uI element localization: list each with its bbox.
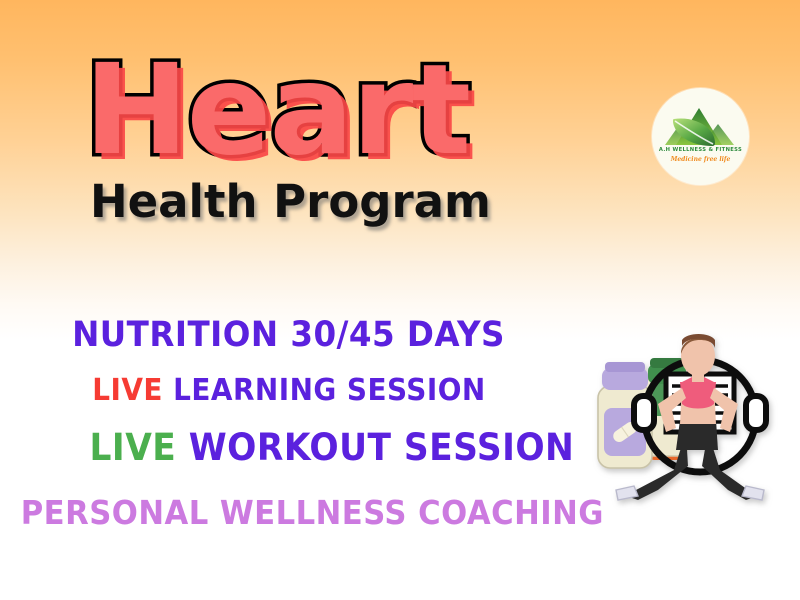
feature-coaching-text: PERSONAL WELLNESS COACHING — [21, 493, 604, 532]
feature-workout-text: WORKOUT SESSION — [176, 426, 574, 469]
poster-header: Heart Health Program — [0, 0, 800, 250]
fitness-illustration — [582, 300, 798, 510]
illustration-artwork — [582, 300, 798, 510]
feature-learning-text: LEARNING SESSION — [163, 373, 486, 408]
brand-logo: A.H WELLNESS & FITNESS Medicine free lif… — [652, 88, 749, 185]
leaf-mountain-icon — [652, 88, 749, 185]
feature-nutrition-text: NUTRITION 30/45 DAYS — [72, 315, 505, 355]
feature-learning-live-badge: LIVE — [92, 373, 163, 408]
feature-list: NUTRITION 30/45 DAYS LIVE LEARNING SESSI… — [0, 318, 592, 529]
logo-tagline-text: Medicine free life — [652, 156, 749, 163]
page-subtitle: Health Program — [90, 179, 544, 224]
feature-item-workout-session: LIVE WORKOUT SESSION — [21, 429, 572, 466]
feature-item-coaching: PERSONAL WELLNESS COACHING — [21, 496, 572, 529]
logo-brand-text: A.H WELLNESS & FITNESS — [652, 147, 749, 153]
feature-item-learning-session: LIVE LEARNING SESSION — [21, 376, 572, 406]
poster-canvas: Heart Health Program — [0, 0, 800, 600]
feature-item-nutrition: NUTRITION 30/45 DAYS — [6, 318, 571, 353]
title-block: Heart Health Program — [84, 48, 544, 224]
feature-workout-live-badge: LIVE — [90, 426, 177, 469]
page-title: Heart — [84, 48, 544, 173]
